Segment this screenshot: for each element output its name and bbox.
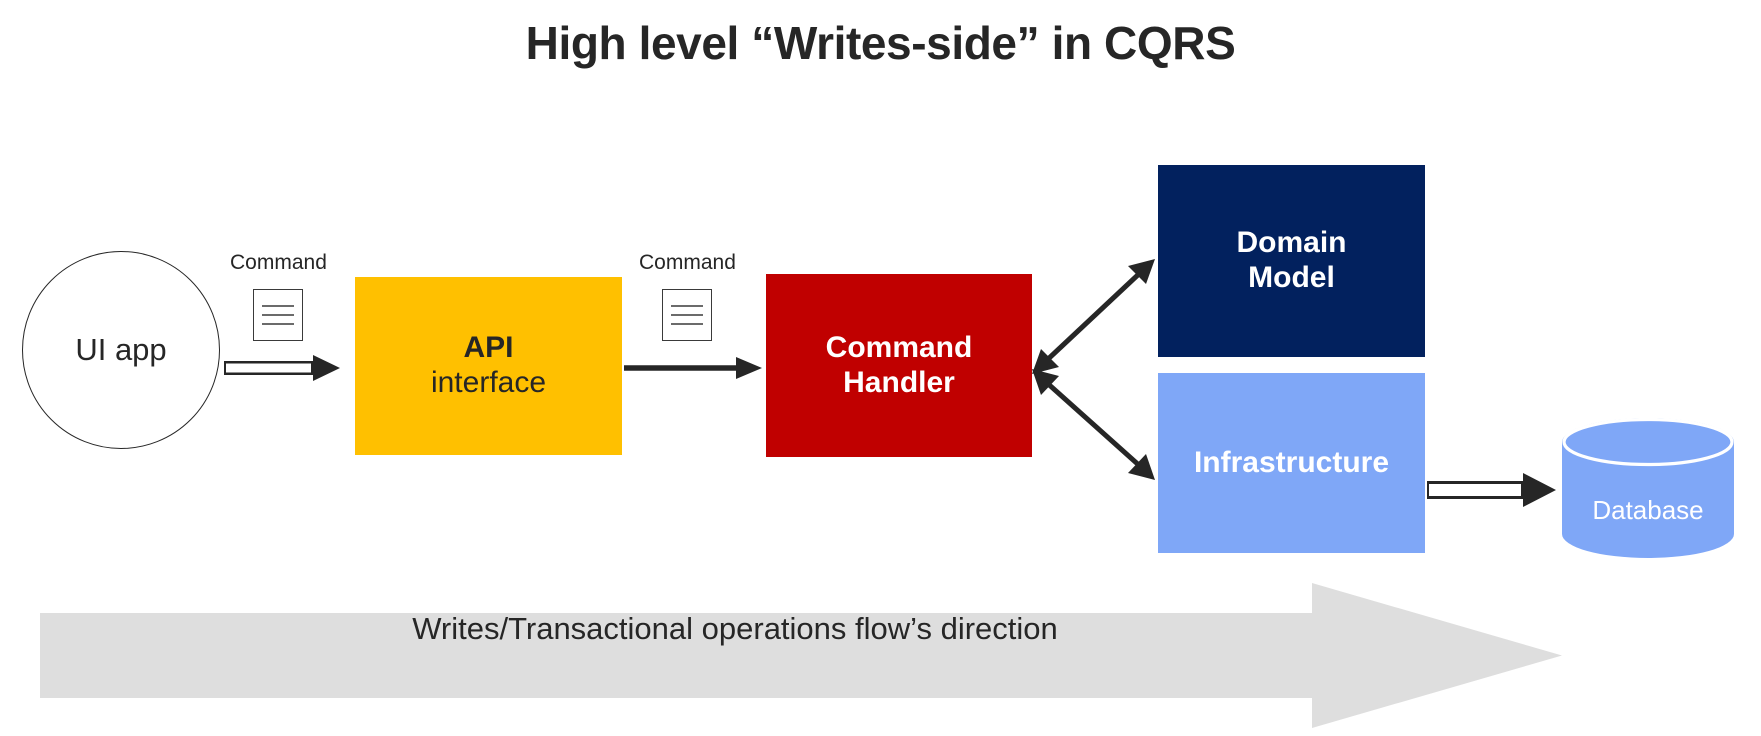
node-ui-app[interactable]: UI app — [22, 251, 220, 449]
node-infrastructure[interactable]: Infrastructure — [1158, 373, 1425, 553]
document-icon-line — [262, 323, 294, 325]
document-icon — [662, 289, 712, 341]
arrow-api-to-command-handler — [624, 357, 762, 379]
arrow-uiapp-to-api — [224, 355, 340, 381]
node-domain-model-subtitle: Model — [1248, 261, 1335, 296]
node-domain-model-title: Domain — [1236, 226, 1346, 261]
node-command-handler[interactable]: Command Handler — [766, 274, 1032, 457]
edge-label-command-1: Command — [230, 251, 327, 275]
node-command-handler-title: Command — [826, 331, 973, 366]
node-domain-model[interactable]: Domain Model — [1158, 165, 1425, 357]
node-command-handler-subtitle: Handler — [843, 366, 955, 401]
document-icon-line — [262, 314, 294, 316]
document-icon-line — [262, 305, 294, 307]
arrow-infrastructure-to-database — [1427, 473, 1556, 507]
node-infrastructure-title: Infrastructure — [1194, 446, 1389, 481]
document-icon-line — [671, 323, 703, 325]
document-icon-line — [671, 314, 703, 316]
node-api-title: API — [463, 331, 513, 366]
arrow-command-handler-to-infrastructure — [1032, 369, 1155, 480]
document-icon — [253, 289, 303, 341]
page-title: High level “Writes-side” in CQRS — [0, 16, 1761, 70]
node-api-subtitle: interface — [431, 366, 546, 401]
edge-label-command-2: Command — [639, 251, 736, 275]
node-database-label: Database — [1562, 495, 1734, 526]
flow-direction-label: Writes/Transactional operations flow’s d… — [40, 611, 1430, 647]
arrow-command-handler-to-domain-model — [1032, 259, 1155, 374]
node-ui-app-label: UI app — [75, 332, 166, 368]
node-api-interface[interactable]: API interface — [355, 277, 622, 455]
document-icon-line — [671, 305, 703, 307]
flow-direction-banner — [40, 583, 1562, 728]
node-database[interactable] — [1562, 418, 1734, 558]
